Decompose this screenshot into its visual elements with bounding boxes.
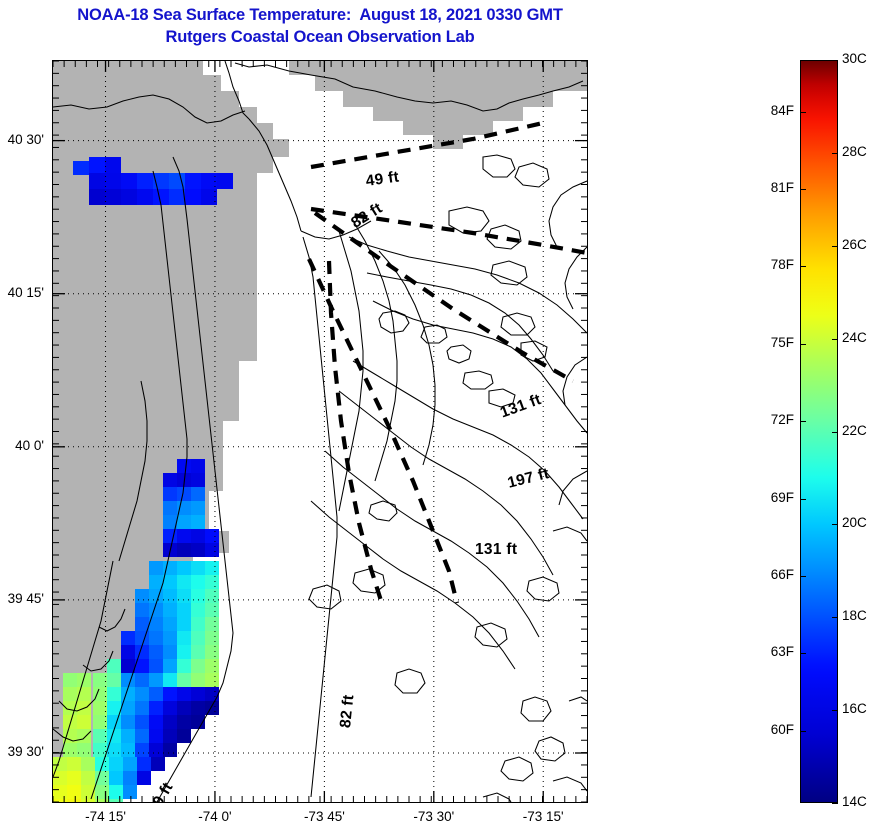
colorbar-tick-fahrenheit [800,189,806,190]
colorbar-tick-celsius [832,710,838,711]
colorbar-tick-celsius [832,803,838,804]
colorbar-label-celsius: 22C [842,423,867,438]
colorbar-label-celsius: 18C [842,608,867,623]
y-axis-tick-label: 39 45' [0,591,44,606]
x-axis-tick-label: -74 15' [56,809,156,824]
colorbar-label-fahrenheit: 69F [742,490,794,505]
map-plot-area: 49 ft82 ft131 ft197 ft131 ft82 ft49 ft [52,60,588,803]
colorbar-tick-celsius [832,246,838,247]
colorbar-label-celsius: 24C [842,330,867,345]
y-axis-tick-label: 40 15' [0,285,44,300]
colorbar-label-fahrenheit: 78F [742,257,794,272]
depth-contour-label: 131 ft [475,541,517,559]
colorbar-label-celsius: 14C [842,794,867,809]
x-axis-tick-label: -73 30' [384,809,484,824]
title-line-1: NOAA-18 Sea Surface Temperature: August … [0,4,640,26]
colorbar-tick-celsius [832,153,838,154]
colorbar-label-fahrenheit: 84F [742,103,794,118]
colorbar-tick-fahrenheit [800,266,806,267]
colorbar-label-fahrenheit: 66F [742,567,794,582]
colorbar-label-fahrenheit: 75F [742,335,794,350]
colorbar-tick-fahrenheit [800,112,806,113]
sst-map-figure: NOAA-18 Sea Surface Temperature: August … [0,0,872,832]
x-axis-tick-label: -73 15' [493,809,593,824]
colorbar-tick-celsius [832,432,838,433]
colorbar-label-fahrenheit: 60F [742,722,794,737]
colorbar-label-celsius: 20C [842,515,867,530]
colorbar-tick-celsius [832,617,838,618]
colorbar-tick-celsius [832,339,838,340]
colorbar-tick-celsius [832,60,838,61]
colorbar-tick-fahrenheit [800,653,806,654]
colorbar-label-celsius: 28C [842,144,867,159]
y-axis-tick-label: 39 30' [0,744,44,759]
y-axis-tick-label: 40 30' [0,132,44,147]
colorbar-tick-fahrenheit [800,499,806,500]
x-axis-tick-label: -74 0' [165,809,265,824]
map-canvas: 49 ft82 ft131 ft197 ft131 ft82 ft49 ft [53,61,587,802]
depth-contour-label: 82 ft [337,694,358,729]
title-line-2: Rutgers Coastal Ocean Observation Lab [0,26,640,48]
figure-title: NOAA-18 Sea Surface Temperature: August … [0,4,640,48]
lat-lon-grid [53,61,587,802]
colorbar-label-fahrenheit: 72F [742,412,794,427]
colorbar-label-celsius: 30C [842,51,867,66]
colorbar-label-celsius: 16C [842,701,867,716]
colorbar-tick-fahrenheit [800,421,806,422]
colorbar-tick-fahrenheit [800,576,806,577]
colorbar-tick-fahrenheit [800,344,806,345]
colorbar-label-celsius: 26C [842,237,867,252]
colorbar-label-fahrenheit: 63F [742,644,794,659]
x-axis-tick-label: -73 45' [274,809,374,824]
colorbar-tick-fahrenheit [800,731,806,732]
colorbar-label-fahrenheit: 81F [742,180,794,195]
y-axis-tick-label: 40 0' [0,438,44,453]
colorbar-tick-celsius [832,524,838,525]
